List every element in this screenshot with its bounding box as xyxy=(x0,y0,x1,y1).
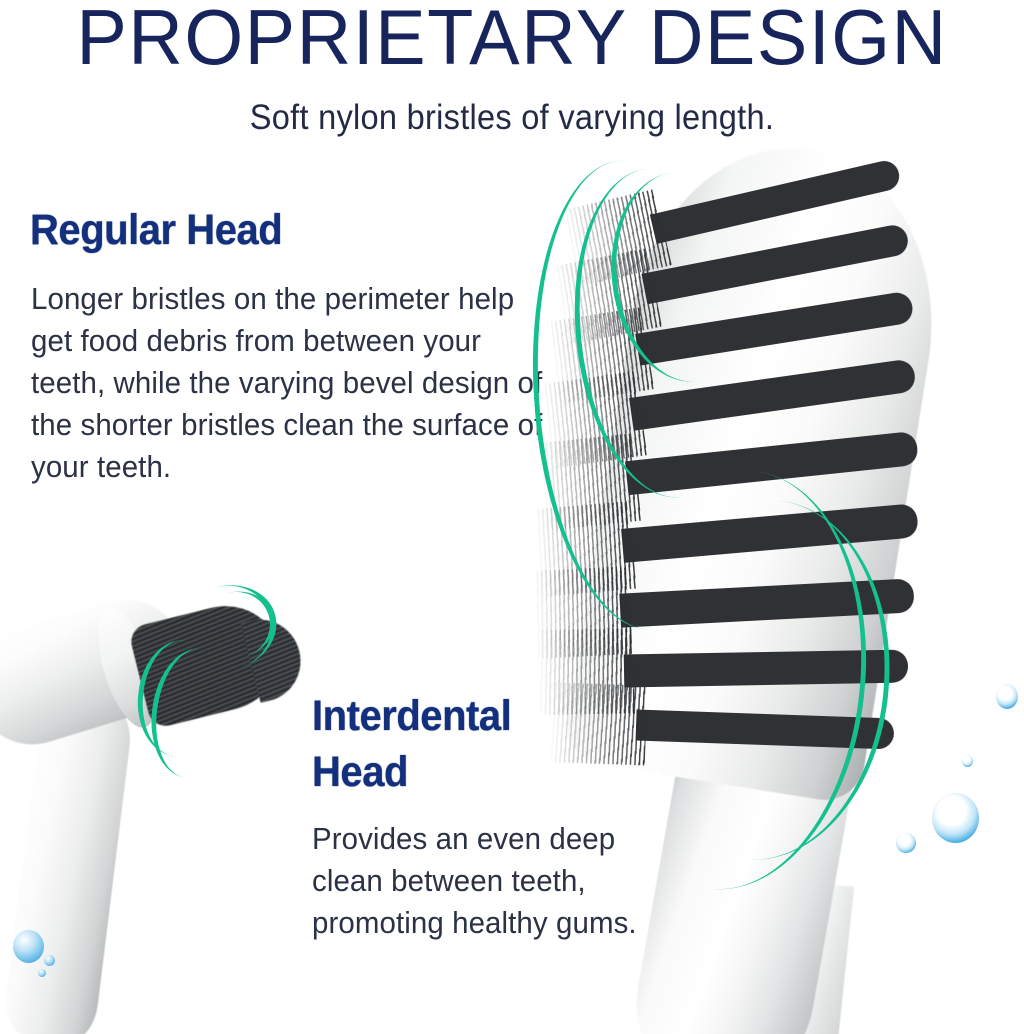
water-droplet xyxy=(38,969,46,977)
page-title: PROPRIETARY DESIGN xyxy=(15,0,1008,80)
water-droplet xyxy=(44,955,55,966)
water-droplet xyxy=(13,930,44,963)
regular-head-heading: Regular Head xyxy=(30,204,282,256)
regular-head-body: Longer bristles on the perimeter help ge… xyxy=(31,278,563,488)
page-subtitle: Soft nylon bristles of varying length. xyxy=(36,96,988,140)
interdental-handle xyxy=(2,696,135,1034)
water-droplet xyxy=(896,833,916,853)
water-droplet xyxy=(996,684,1018,709)
infographic-canvas: PROPRIETARY DESIGN Soft nylon bristles o… xyxy=(0,0,1024,1034)
water-droplet xyxy=(932,793,979,843)
interdental-head-body: Provides an even deep clean between teet… xyxy=(312,818,654,944)
water-droplet xyxy=(962,755,973,767)
